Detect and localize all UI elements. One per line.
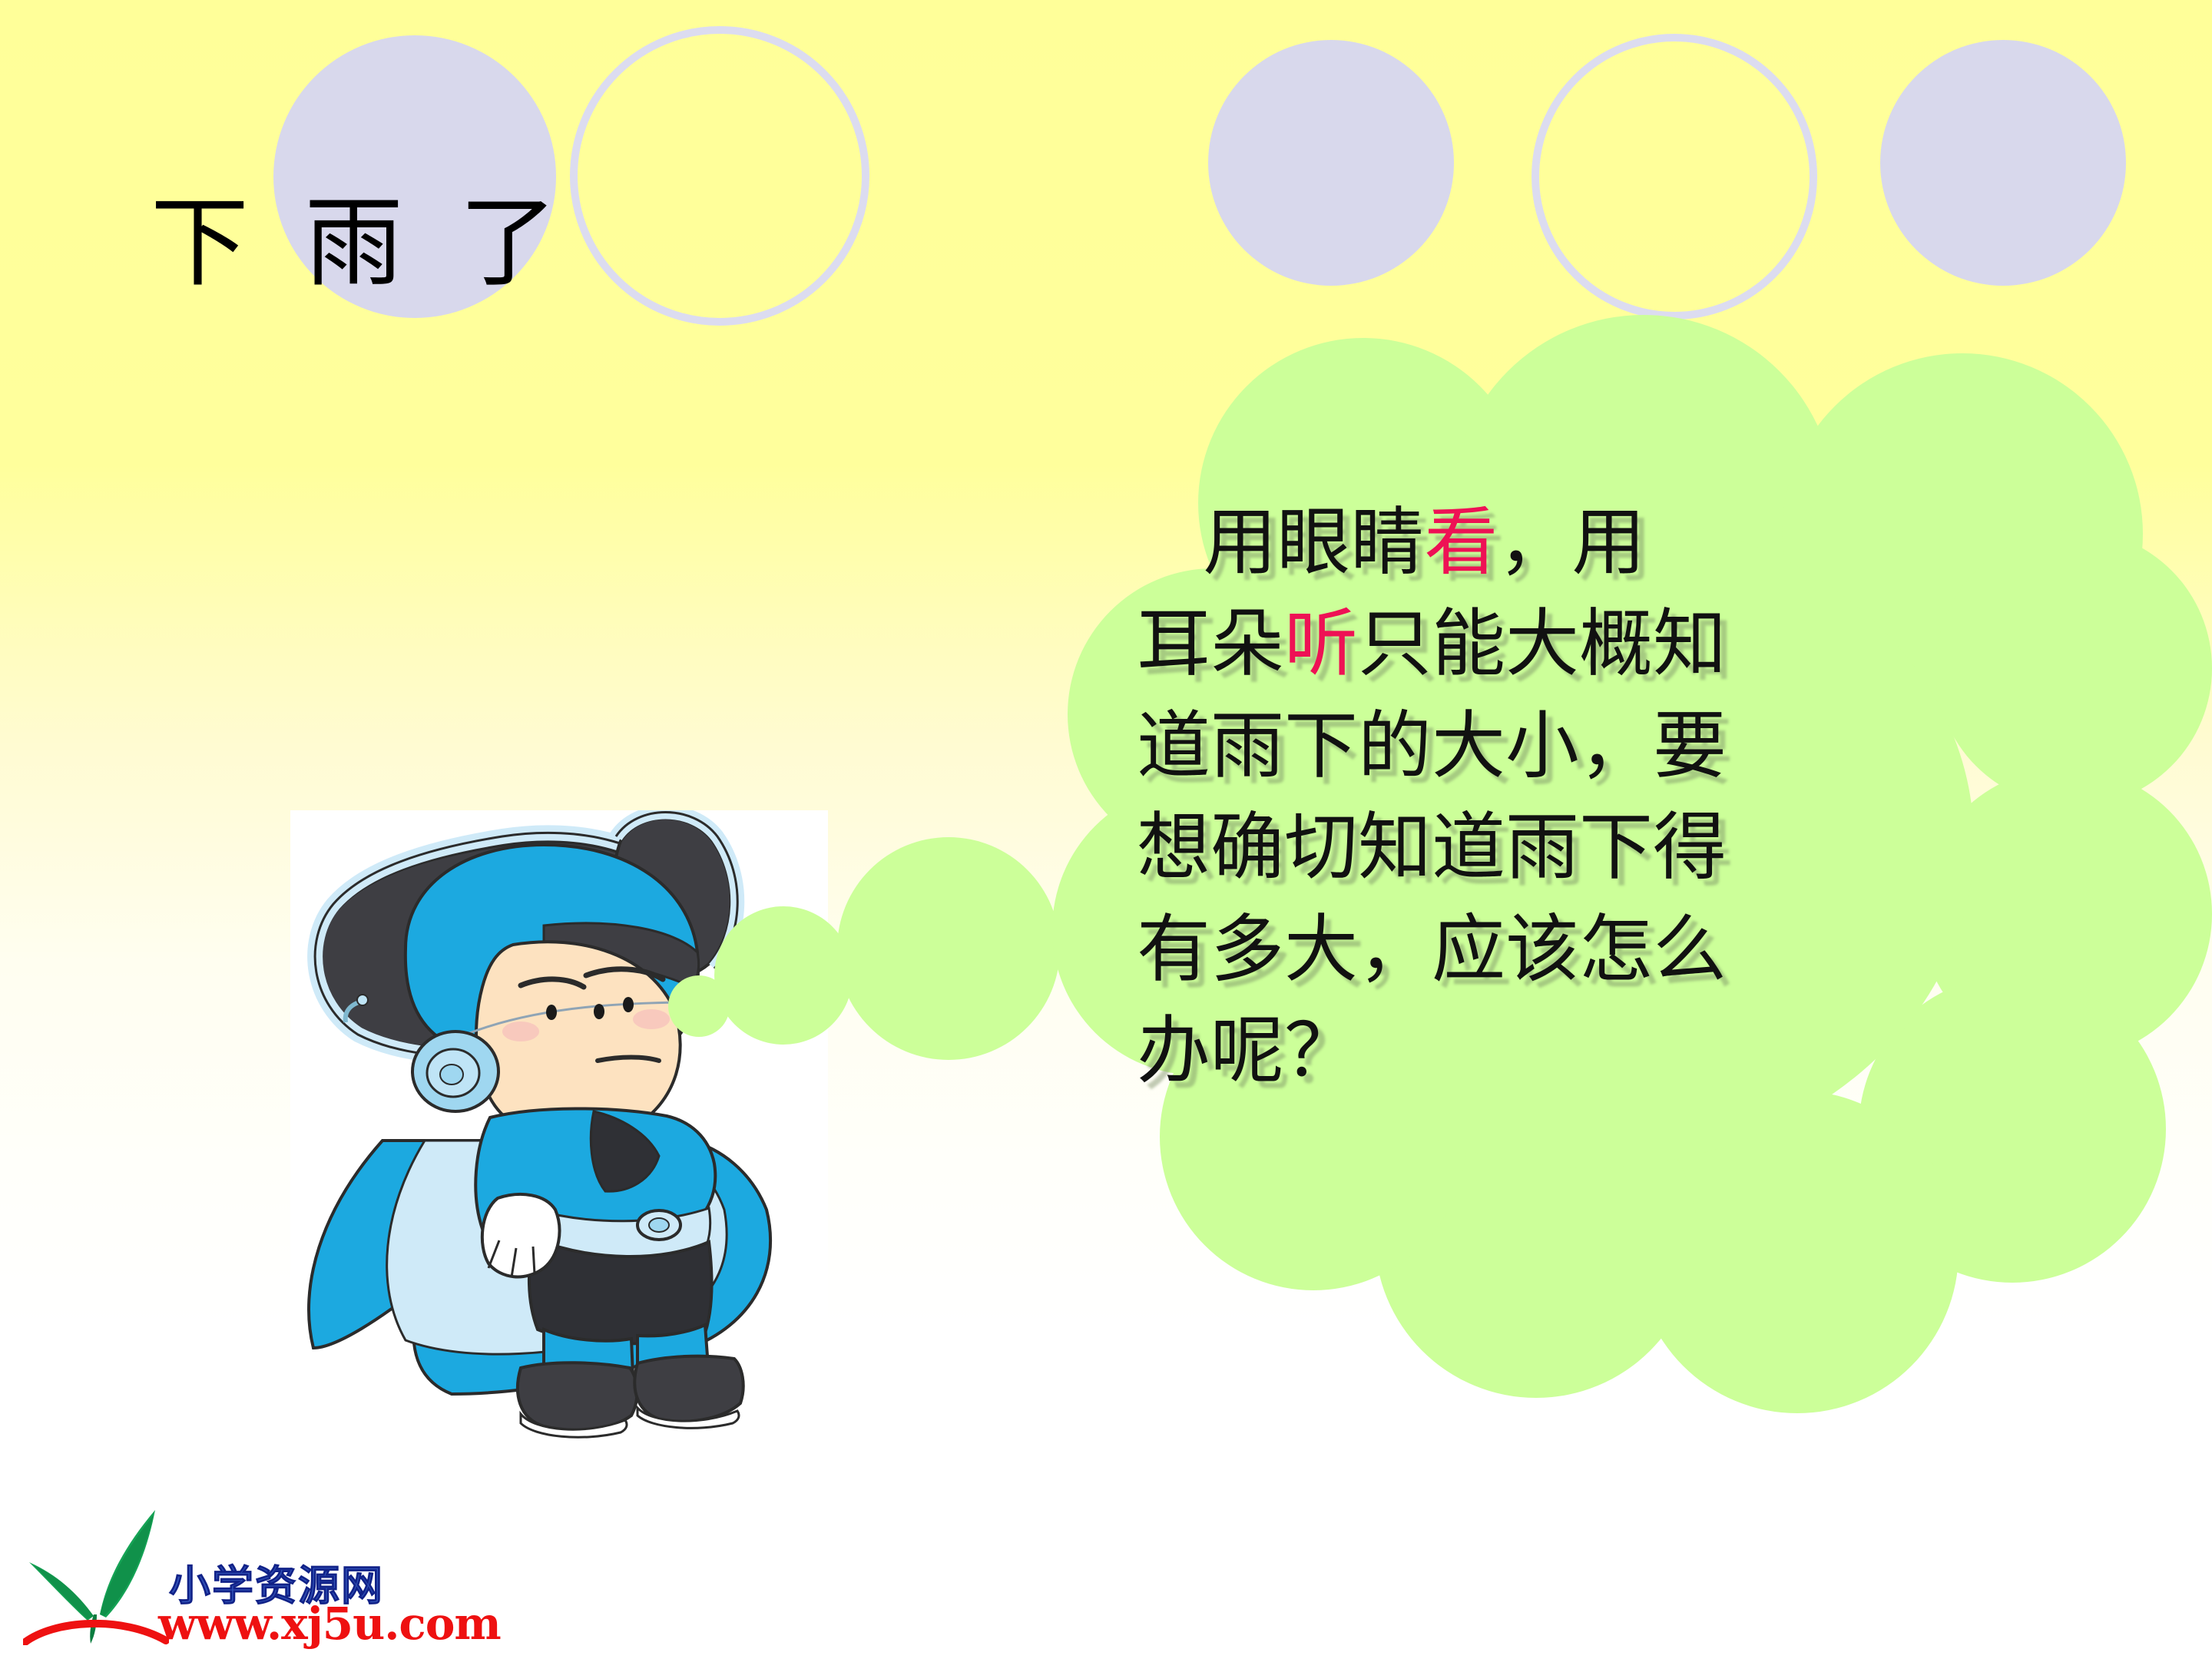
deco-circle-2 [570, 26, 869, 326]
bubble-text-run: 耳朵 [1137, 601, 1284, 687]
deco-circle-3 [1208, 40, 1454, 286]
deco-circle-4 [1532, 34, 1817, 320]
thought-puff-medium [837, 837, 1060, 1060]
bubble-text-line: 耳朵听只能大概知 [1137, 593, 2066, 694]
bubble-text-line: 有多大，应该怎么 [1137, 899, 2066, 1000]
bubble-text-run: 只能大概知 [1358, 601, 1727, 687]
bubble-text-line: 想确切知道雨下得 [1137, 796, 2066, 898]
thought-bubble-text: 用眼睛看，用耳朵听只能大概知道雨下的大小，要想确切知道雨下得有多大，应该怎么办呢… [1137, 492, 2066, 1102]
deco-circle-5 [1880, 40, 2126, 286]
thought-bubble: 用眼睛看，用耳朵听只能大概知道雨下的大小，要想确切知道雨下得有多大，应该怎么办呢… [945, 338, 2212, 1406]
page-title: 下 雨 了 [151, 192, 569, 295]
bubble-text-line: 用眼睛看，用 [1137, 492, 2066, 593]
bubble-text-line: 道雨下的大小，要 [1137, 695, 2066, 796]
bubble-text-run: 办呢？ [1137, 1008, 1358, 1094]
bubble-text-run: 有多大，应该怎么 [1137, 906, 1727, 992]
bubble-text-run: ，用 [1498, 499, 1645, 585]
bubble-text-run: 用眼睛 [1203, 499, 1424, 585]
bubble-text-line: 办呢？ [1137, 1000, 2066, 1101]
slide-canvas: 下 雨 了 [0, 0, 2212, 1659]
bubble-text-run: 想确切知道雨下得 [1137, 804, 1727, 890]
logo-site-url: www.xj5u.com [158, 1598, 501, 1650]
bubble-text-accent: 听 [1284, 601, 1358, 687]
bubble-text-run: 道雨下的大小，要 [1137, 703, 1727, 789]
bubble-text-accent: 看 [1424, 499, 1498, 585]
cartoon-boy-icon [290, 810, 828, 1448]
leaf-sprout-icon [23, 1499, 169, 1645]
character-image-frame [290, 810, 828, 1448]
site-logo: 小学资源网 www.xj5u.com [23, 1492, 422, 1653]
thought-puff-small [714, 906, 853, 1045]
